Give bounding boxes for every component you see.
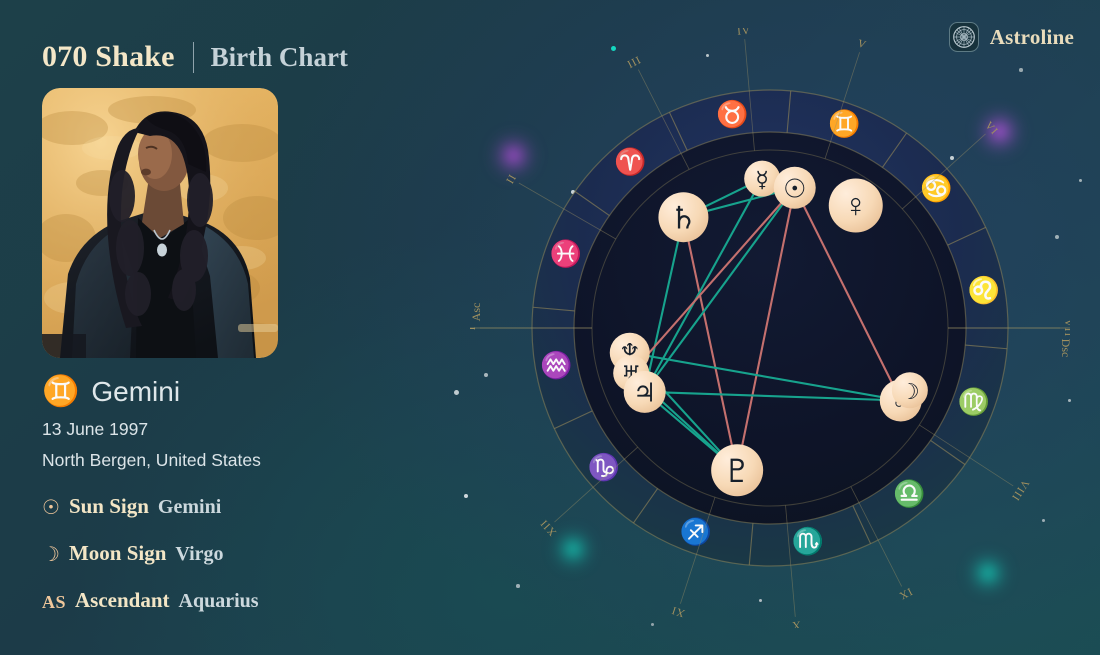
planet-glyph-jupiter: ♃ <box>633 378 656 407</box>
star-dot <box>454 390 459 395</box>
ascendant-value: Aquarius <box>179 590 259 613</box>
house-numeral: III <box>626 54 644 71</box>
house-numeral: XI <box>670 604 687 620</box>
person-name: 070 Shake <box>42 40 175 74</box>
birth-date: 13 June 1997 <box>42 419 148 440</box>
zodiac-glyph-leo: ♌ <box>968 275 1000 305</box>
avatar <box>42 88 278 358</box>
planet-marker-sun[interactable]: ☉ <box>774 167 816 209</box>
planet-glyph-pluto: ♇ <box>723 453 752 489</box>
planet-glyph-saturn: ♄ <box>670 201 698 236</box>
title-divider <box>193 42 194 73</box>
zodiac-glyph-taurus: ♉ <box>716 99 748 129</box>
zodiac-glyph-aquarius: ♒ <box>540 350 572 380</box>
house-numeral: IX <box>897 585 915 602</box>
planet-marker-pluto[interactable]: ♇ <box>711 444 763 496</box>
planet-glyph-sun: ☉ <box>783 174 806 203</box>
moon-icon: ☽ <box>42 545 60 565</box>
planet-glyph-mercury: ☿ <box>755 167 769 192</box>
descendant-label: Dsc <box>1059 339 1070 358</box>
planet-marker-jupiter[interactable]: ♃ <box>624 371 666 413</box>
zodiac-sign-heading: ♊ Gemini <box>42 376 180 408</box>
sun-icon: ☉ <box>42 498 60 518</box>
attribute-row-moon-sign: ☽ Moon Sign Virgo <box>42 541 224 566</box>
planet-marker-moon[interactable]: ☽ <box>892 372 928 408</box>
house-numeral: II <box>504 172 519 186</box>
planet-glyph-venus: ♀ <box>843 189 868 225</box>
inner-circle <box>592 150 948 506</box>
zodiac-glyph-virgo: ♍ <box>958 387 990 417</box>
zodiac-glyph-libra: ♎ <box>893 479 925 509</box>
birth-chart-wheel[interactable]: ♐♏♎♍♌♋♊♉♈♓♒♑IIIIIIIVVVIVIIVIIIIXXXIXIIAs… <box>470 28 1070 628</box>
sun-sign-value: Gemini <box>158 496 221 519</box>
planet-glyph-moon: ☽ <box>900 379 920 404</box>
attribute-row-sun-sign: ☉ Sun Sign Gemini <box>42 494 221 519</box>
zodiac-glyph-aries: ♈ <box>614 146 646 176</box>
zodiac-glyph-scorpio: ♏ <box>791 526 823 556</box>
screenshot-root: 070 Shake Birth Chart Astroline <box>0 0 1100 655</box>
star-dot <box>1079 179 1082 182</box>
house-numeral: XII <box>538 517 559 539</box>
house-numeral: VI <box>982 120 1000 138</box>
zodiac-glyph-pisces: ♓ <box>550 238 582 268</box>
planet-marker-venus[interactable]: ♀ <box>829 179 883 233</box>
planet-marker-saturn[interactable]: ♄ <box>658 192 708 242</box>
moon-sign-label: Moon Sign <box>69 541 166 566</box>
birth-place: North Bergen, United States <box>42 450 261 471</box>
ascendant-label: Asc <box>470 303 483 322</box>
house-numeral: X <box>791 618 801 628</box>
page-subtitle: Birth Chart <box>211 42 348 73</box>
sun-sign-label: Sun Sign <box>69 494 149 519</box>
ascendant-icon: AS <box>42 593 66 611</box>
house-numeral: VIII <box>1009 477 1032 503</box>
attribute-row-ascendant: AS Ascendant Aquarius <box>42 588 259 613</box>
page-title: 070 Shake Birth Chart <box>42 40 348 74</box>
house-numeral: IV <box>737 28 752 38</box>
moon-sign-value: Virgo <box>175 543 223 566</box>
gemini-icon: ♊ <box>42 377 79 407</box>
portrait-photo <box>42 88 278 358</box>
ascendant-label: Ascendant <box>75 588 170 613</box>
zodiac-sign-name: Gemini <box>91 376 180 408</box>
house-numeral: V <box>856 37 868 51</box>
